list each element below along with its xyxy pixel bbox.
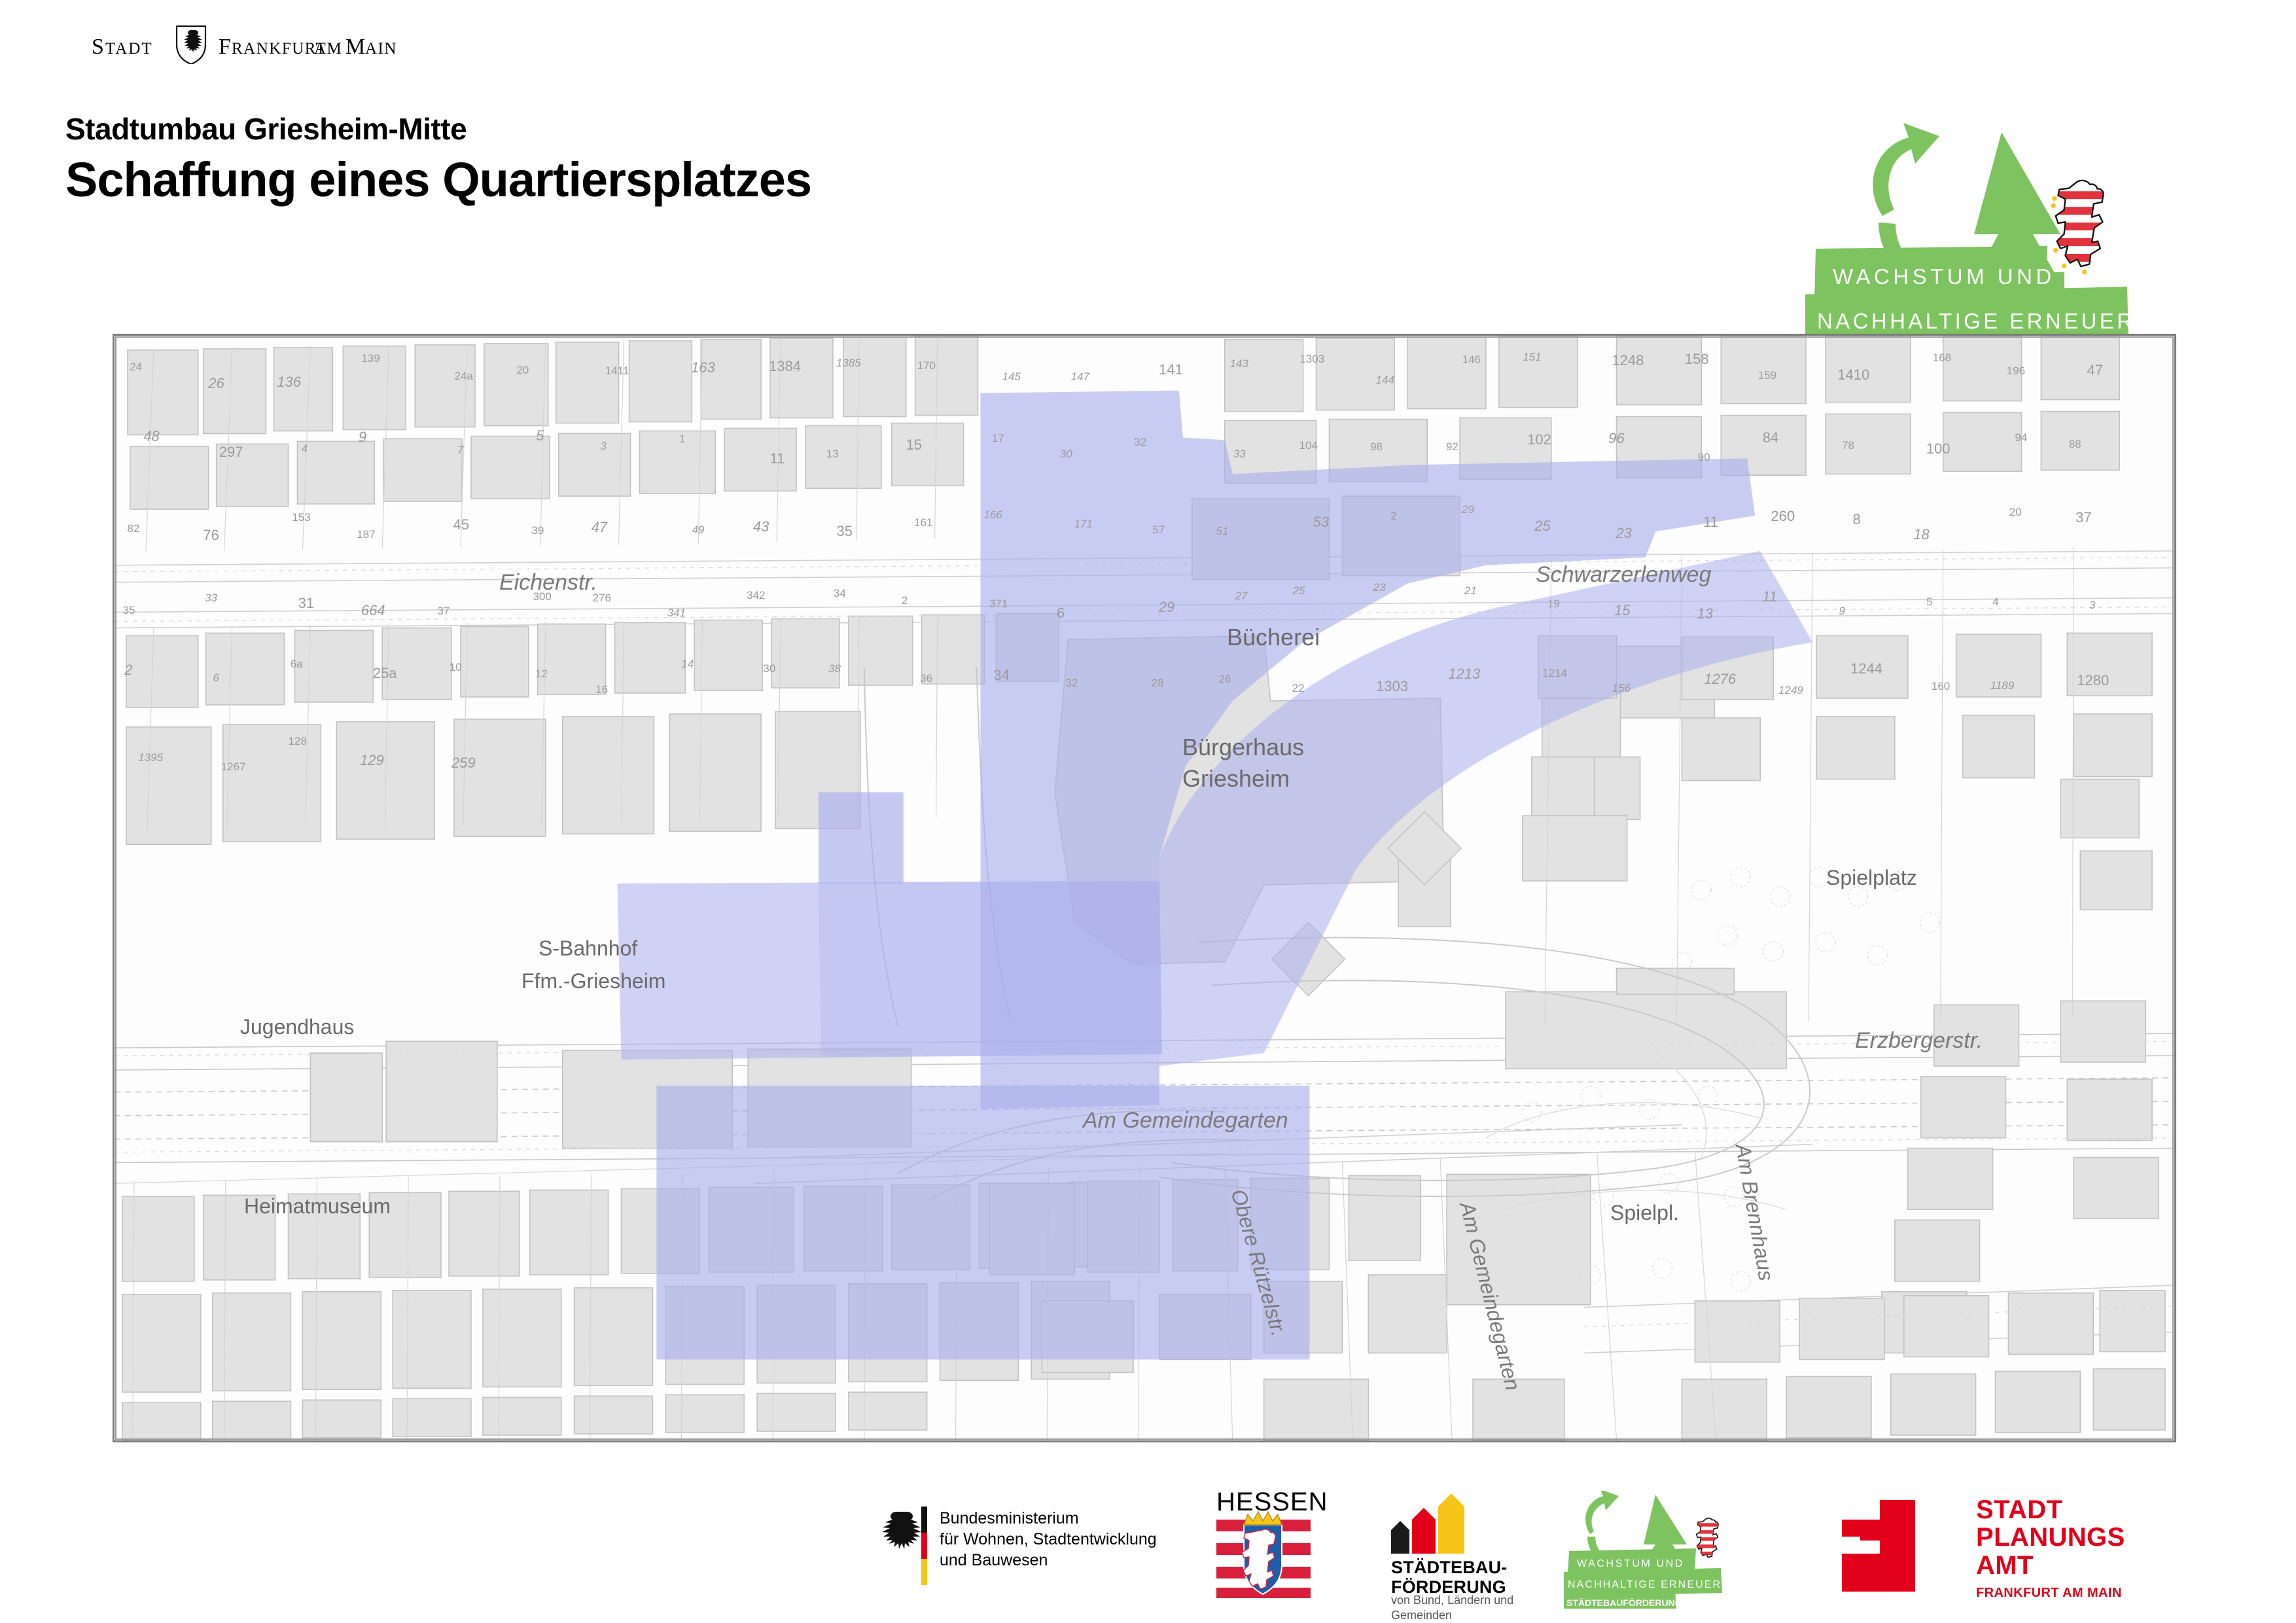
svg-text:RANKFURT: RANKFURT [232,40,327,58]
page-title: Schaffung eines Quartiersplatzes [65,152,811,207]
city-wordmark-logo: S TADT F RANKFURT AM M AIN [92,24,510,63]
stadtplanungsamt-line-2: PLANUNGS [1976,1524,2125,1551]
hessen-wordmark: HESSEN [1216,1489,1328,1516]
stadtplanungsamt-logo: STADT PLANUNGS AMT FRANKFURT AM MAIN [1835,1496,2110,1601]
footer-banner-line-2: NACHHALTIGE ERNEUERUNG [1568,1579,1749,1590]
bund-line-3: und Bauwesen [940,1551,1048,1569]
stadtplanungsamt-line-4: FRANKFURT AM MAIN [1976,1586,2125,1601]
wachstum-erneuerung-footer-logo: WACHSTUM UND NACHHALTIGE ERNEUERUNG STÄD… [1564,1491,1760,1609]
hessen-state-logo: HESSEN [1214,1489,1332,1601]
map-vector-layer [115,336,2174,1440]
cadastral-map[interactable]: Bücherei Bürgerhaus Griesheim Spielplatz… [113,334,2176,1442]
project-subtitle: Stadtumbau Griesheim-Mitte [65,111,811,147]
banner-line-1: WACHSTUM UND [1833,264,2055,289]
stadtplanungsamt-line-3: AMT [1976,1552,2125,1579]
svg-text:AIN: AIN [365,40,397,58]
stadtplanungsamt-line-1: STADT [1976,1496,2125,1524]
staedtebau-sub-2: Gemeinden [1391,1608,1513,1623]
hessen-lion-icon [1695,1518,1722,1558]
bund-line-2: für Wohnen, Stadtentwicklung [940,1530,1157,1548]
bundesministerium-logo: Bundesministerium für Wohnen, Stadtentwi… [870,1496,1178,1594]
banner-line-2: NACHHALTIGE ERNEUERUNG [1817,309,2192,333]
svg-text:M: M [345,35,365,59]
footer-logo-bar: Bundesministerium für Wohnen, Stadtentwi… [0,1480,2296,1611]
svg-text:AM: AM [314,40,342,58]
footer-banner-line-1: WACHSTUM UND [1577,1558,1684,1569]
svg-text:TADT: TADT [105,40,153,58]
svg-text:F: F [219,35,231,59]
staedtebau-sub-1: von Bund, Ländern und [1391,1593,1513,1608]
title-block: Stadtumbau Griesheim-Mitte Schaffung ein… [65,111,811,207]
staedtebau-title-1: STÄDTEBAU- [1391,1558,1508,1577]
footer-banner-line-3: STÄDTEBAUFÖRDERUNG HESSEN [1566,1597,1722,1608]
svg-text:S: S [92,35,105,59]
staedtebaufoerderung-logo: STÄDTEBAU- FÖRDERUNG von Bund, Ländern u… [1381,1493,1531,1605]
hessen-lion-icon [2051,181,2112,274]
bund-line-1: Bundesministerium [940,1509,1079,1527]
